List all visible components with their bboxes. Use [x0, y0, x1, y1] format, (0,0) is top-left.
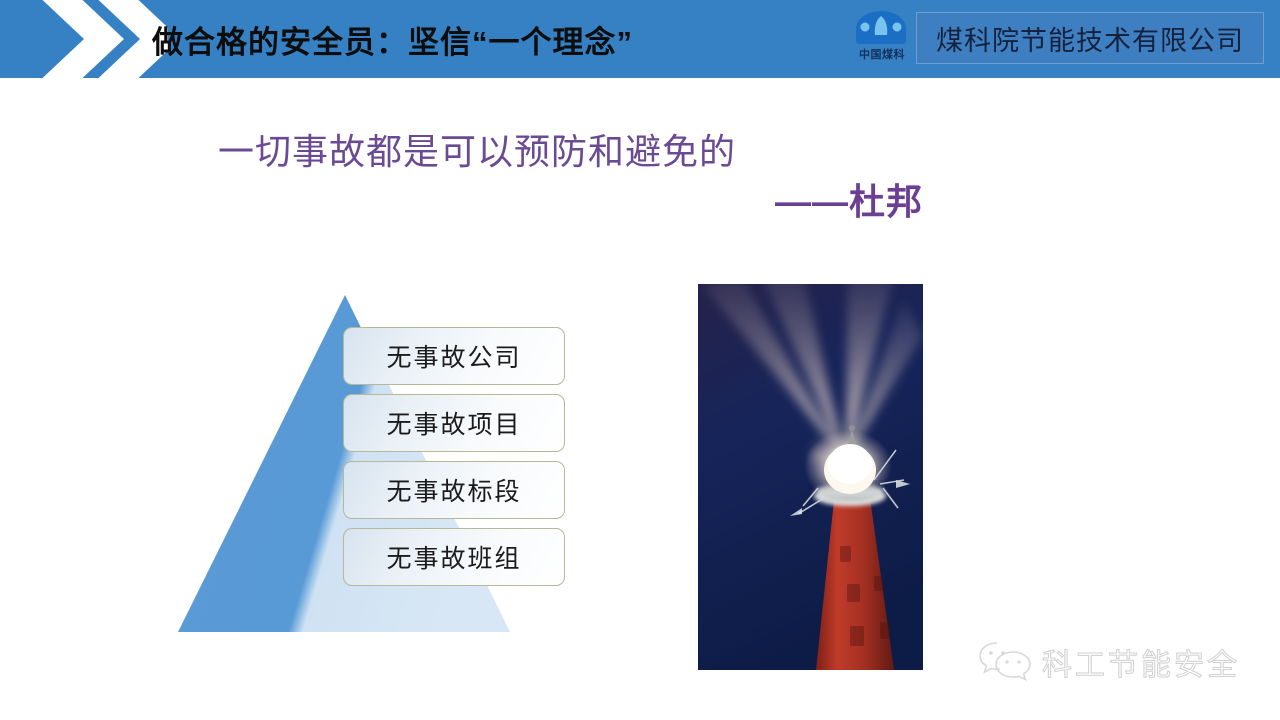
quote-line: 一切事故都是可以预防和避免的	[218, 123, 736, 175]
double-chevron-right-icon	[28, 0, 168, 78]
lighthouse-at-night-photo	[698, 284, 923, 670]
wechat-logo-icon	[978, 639, 1032, 686]
brand-logo: 中国煤科	[846, 8, 918, 70]
china-coal-shield-logo-icon	[854, 10, 908, 46]
pyramid-level-item[interactable]: 无事故公司	[343, 327, 565, 385]
quote-attribution: ——杜邦	[775, 173, 923, 225]
pyramid-level-list: 无事故公司 无事故项目 无事故标段 无事故班组	[343, 327, 565, 595]
pyramid-level-item[interactable]: 无事故标段	[343, 461, 565, 519]
company-name-box: 煤科院节能技术有限公司	[916, 12, 1264, 64]
company-name-text: 煤科院节能技术有限公司	[936, 19, 1244, 58]
pyramid-level-label: 无事故标段	[386, 472, 521, 508]
wechat-watermark: 科工节能安全	[978, 634, 1268, 690]
slide-canvas: 做合格的安全员：坚信“一个理念” 中国煤科 煤科院节能技术有限公司 一切事故都是…	[0, 0, 1280, 720]
pyramid-level-item[interactable]: 无事故项目	[343, 394, 565, 452]
header-band: 做合格的安全员：坚信“一个理念” 中国煤科 煤科院节能技术有限公司	[0, 0, 1280, 78]
brand-caption: 中国煤科	[846, 46, 918, 62]
pyramid-level-label: 无事故项目	[386, 405, 521, 441]
watermark-text: 科工节能安全	[1042, 640, 1240, 684]
pyramid-level-label: 无事故公司	[386, 338, 521, 374]
pyramid-level-label: 无事故班组	[386, 539, 521, 575]
pyramid-diagram: 无事故公司 无事故项目 无事故标段 无事故班组	[170, 288, 580, 638]
page-title: 做合格的安全员：坚信“一个理念”	[152, 0, 633, 78]
pyramid-level-item[interactable]: 无事故班组	[343, 528, 565, 586]
